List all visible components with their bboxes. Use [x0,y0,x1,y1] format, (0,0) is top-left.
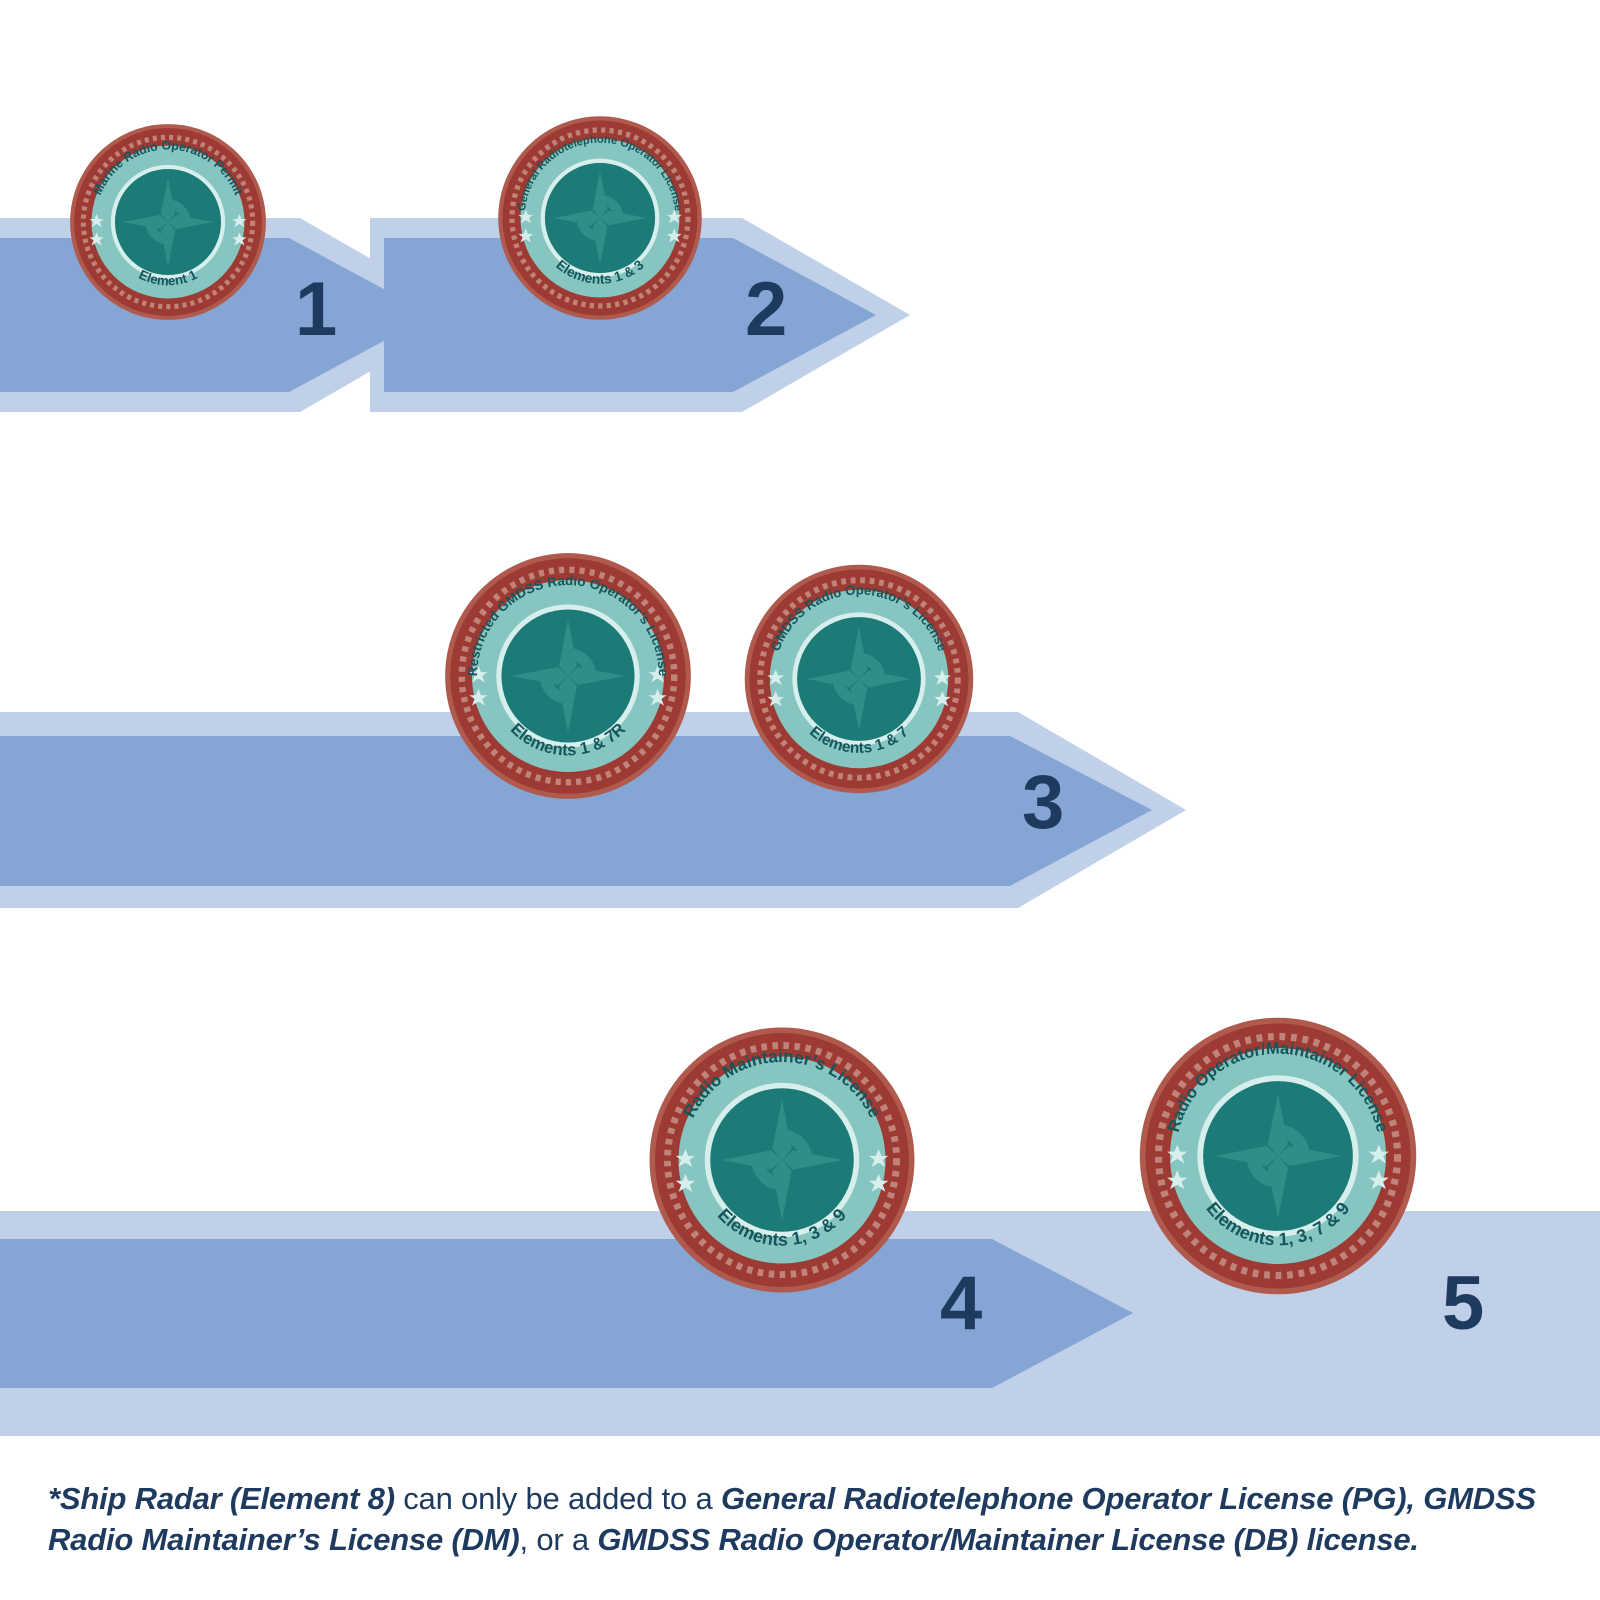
badge-radio-maintainers-license[interactable]: Radio Maintainer’s License Elements 1, 3… [644,1022,920,1298]
footnote-part-5: GMDSS Radio Operator/Maintainer License … [597,1522,1418,1557]
footnote-part-1: *Ship Radar (Element 8) [48,1481,395,1516]
badge-radio-operator-maintainer-license[interactable]: Radio Operator/Maintainer License Elemen… [1134,1012,1422,1300]
infographic-canvas: 1 2 3 4 5 [0,0,1600,1600]
badge-graphic: Marine Radio Operator Permit Element 1 [66,120,270,324]
step-number-5: 5 [1442,1266,1483,1342]
footnote-part-4: , or a [520,1522,598,1557]
badge-gmdss-radio-operators-license[interactable]: GMDSS Radio Operator’s License Elements … [740,560,978,798]
badge-graphic: Radio Operator/Maintainer License Elemen… [1134,1012,1422,1300]
step-number-4: 4 [940,1266,981,1342]
footnote: *Ship Radar (Element 8) can only be adde… [48,1478,1568,1560]
badge-graphic: General Radiotelephone Operator License … [494,112,706,324]
badge-restricted-gmdss-radio-operators-license[interactable]: Restricted GMDSS Radio Operator’s Licens… [440,548,696,804]
footnote-part-2: can only be added to a [395,1481,721,1516]
badge-general-radiotelephone-operator-license[interactable]: General Radiotelephone Operator License … [494,112,706,324]
badge-graphic: Radio Maintainer’s License Elements 1, 3… [644,1022,920,1298]
badge-graphic: GMDSS Radio Operator’s License Elements … [740,560,978,798]
badge-graphic: Restricted GMDSS Radio Operator’s Licens… [440,548,696,804]
badge-marine-radio-operator-permit[interactable]: Marine Radio Operator Permit Element 1 [66,120,270,324]
